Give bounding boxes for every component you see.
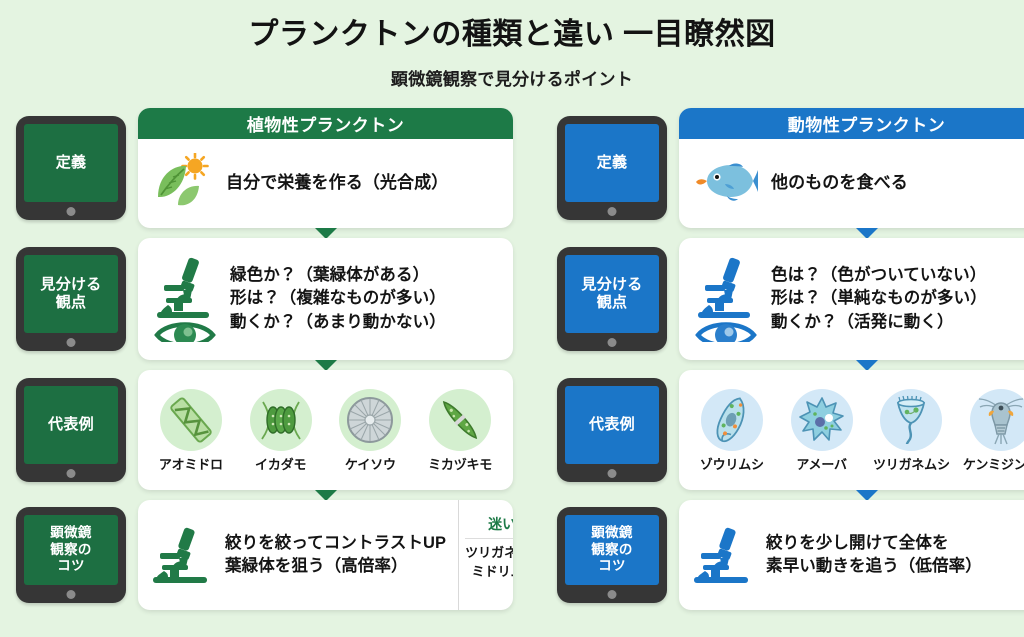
home-button-icon [67, 207, 76, 216]
tablet-screen-label: 定義 [24, 124, 118, 202]
plant-tip-text: 絞りを絞ってコントラストUP 葉緑体を狙う（高倍率） [225, 532, 446, 579]
microscope-icon [691, 522, 753, 589]
chevron-down-icon [856, 228, 878, 239]
tablet-screen-label: 定義 [565, 124, 659, 202]
tablet-screen-label: 代表例 [565, 386, 659, 464]
animal-examples-list: ゾウリムシ アメーバ [679, 370, 1024, 490]
plant-examples-list: アオミドロ イカダモ [138, 370, 513, 490]
title-block: プランクトンの種類と違い 一目瞭然図 顕微鏡観察で見分けるポイント [0, 0, 1024, 90]
plant-column-header: 植物性プランクトン [138, 108, 513, 139]
tablet-screen-label: 代表例 [24, 386, 118, 464]
plant-examples-card: アオミドロ イカダモ [138, 370, 513, 490]
home-button-icon [608, 590, 617, 599]
row-label-tips-plant: 顕微鏡 観察の コツ [16, 507, 126, 603]
animal-definition-card: 動物性プランクトン 他のものを食べる [679, 108, 1024, 228]
microscope-icon [150, 522, 212, 589]
arrow-plant-3 [138, 490, 513, 500]
home-button-icon [67, 469, 76, 478]
tablet-screen-label: 顕微鏡 観察の コツ [565, 515, 659, 585]
row-label-tips-animal: 顕微鏡 観察の コツ [557, 507, 667, 603]
chevron-down-icon [315, 360, 337, 371]
home-button-icon [608, 207, 617, 216]
example-item: ツリガネムシ [867, 389, 955, 473]
microscope-eye-icon [693, 252, 759, 347]
arrow-animal-1 [679, 228, 1024, 238]
chevron-down-icon [856, 360, 878, 371]
chevron-down-icon [315, 228, 337, 239]
comparison-board: 定義 植物性プランクトン [0, 108, 1024, 630]
example-label: ツリガネムシ [873, 454, 950, 473]
tablet-screen-label: 見分ける 観点 [24, 255, 118, 333]
vorticella-icon [880, 389, 942, 451]
example-label: アオミドロ [159, 454, 223, 473]
plant-observation-card: 緑色か？（葉緑体がある） 形は？（複雑なものが多い） 動くか？（あまり動かない） [138, 238, 513, 360]
plant-observation-text: 緑色か？（葉緑体がある） 形は？（複雑なものが多い） 動くか？（あまり動かない） [230, 264, 446, 334]
animal-examples-card: ゾウリムシ アメーバ [679, 370, 1024, 490]
copepod-icon [970, 389, 1024, 451]
home-button-icon [608, 469, 617, 478]
tablet-screen-label: 顕微鏡 観察の コツ [24, 515, 118, 585]
example-label: ケンミジンコ [963, 454, 1024, 473]
plant-observation-body: 緑色か？（葉緑体がある） 形は？（複雑なものが多い） 動くか？（あまり動かない） [138, 238, 513, 360]
arrow-animal-2 [679, 360, 1024, 370]
plant-tip-card: 絞りを絞ってコントラストUP 葉緑体を狙う（高倍率） ! 迷いやすい点 ツリガネ… [138, 500, 513, 610]
diatom-icon [339, 389, 401, 451]
animal-definition-body: 他のものを食べる [679, 139, 1024, 228]
home-button-icon [67, 338, 76, 347]
microscope-eye-icon [152, 252, 218, 347]
plant-definition-card: 植物性プランクトン [138, 108, 513, 228]
arrow-animal-3 [679, 490, 1024, 500]
closterium-icon [429, 389, 491, 451]
plant-definition-body: 自分で栄養を作る（光合成） [138, 139, 513, 228]
animal-definition-text: 他のものを食べる [771, 171, 908, 195]
fish-icon [693, 158, 759, 209]
example-item: アオミドロ [147, 389, 235, 473]
note-line: ツリガネムシは動物性 [465, 544, 513, 563]
example-item: ゾウリムシ [688, 389, 776, 473]
arrow-plant-1 [138, 228, 513, 238]
home-button-icon [67, 590, 76, 599]
page-title: プランクトンの種類と違い 一目瞭然図 [0, 18, 1024, 53]
chevron-down-icon [315, 490, 337, 501]
tablet-screen-label: 見分ける 観点 [565, 255, 659, 333]
scenedesmus-icon [250, 389, 312, 451]
row-label-observation-plant: 見分ける 観点 [16, 247, 126, 351]
example-item: イカダモ [237, 389, 325, 473]
example-label: ケイソウ [345, 454, 396, 473]
spirogyra-icon [160, 389, 222, 451]
leaf-sun-icon [152, 153, 214, 214]
example-item: ケイソウ [326, 389, 414, 473]
example-label: イカダモ [255, 454, 306, 473]
animal-tip-text: 絞りを少し開けて全体を 素早い動きを追う（低倍率） [766, 532, 982, 579]
example-label: アメーバ [796, 454, 846, 473]
row-label-examples-plant: 代表例 [16, 378, 126, 482]
page-subtitle: 顕微鏡観察で見分けるポイント [0, 65, 1024, 90]
example-label: ミカヅキモ [428, 454, 492, 473]
example-item: ケンミジンコ [957, 389, 1024, 473]
infographic-page: プランクトンの種類と違い 一目瞭然図 顕微鏡観察で見分けるポイント 定義 植物性… [0, 0, 1024, 637]
example-label: ゾウリムシ [700, 454, 764, 473]
note-line: ミドリムシは植物性 [472, 563, 513, 582]
plant-definition-text: 自分で栄養を作る（光合成） [226, 171, 448, 195]
arrow-plant-2 [138, 360, 513, 370]
animal-observation-card: 色は？（色がついていない） 形は？（単純なものが多い） 動くか？（活発に動く） [679, 238, 1024, 360]
row-label-observation-animal: 見分ける 観点 [557, 247, 667, 351]
confusion-note: ! 迷いやすい点 ツリガネムシは動物性 ミドリムシは植物性 [458, 500, 513, 610]
chevron-down-icon [856, 490, 878, 501]
animal-observation-text: 色は？（色がついていない） 形は？（単純なものが多い） 動くか？（活発に動く） [771, 264, 987, 334]
home-button-icon [608, 338, 617, 347]
note-title: 迷いやすい点 [465, 514, 513, 539]
paramecium-icon [701, 389, 763, 451]
animal-tip-card: 絞りを少し開けて全体を 素早い動きを追う（低倍率） [679, 500, 1024, 610]
plant-tip-main: 絞りを絞ってコントラストUP 葉緑体を狙う（高倍率） [138, 514, 458, 597]
example-item: ミカヅキモ [416, 389, 504, 473]
row-label-examples-animal: 代表例 [557, 378, 667, 482]
animal-tip-main: 絞りを少し開けて全体を 素早い動きを追う（低倍率） [679, 514, 1024, 597]
example-item: アメーバ [778, 389, 866, 473]
animal-observation-body: 色は？（色がついていない） 形は？（単純なものが多い） 動くか？（活発に動く） [679, 238, 1024, 360]
amoeba-icon [791, 389, 853, 451]
animal-column-header: 動物性プランクトン [679, 108, 1024, 139]
row-label-definition-animal: 定義 [557, 116, 667, 220]
row-label-definition-plant: 定義 [16, 116, 126, 220]
